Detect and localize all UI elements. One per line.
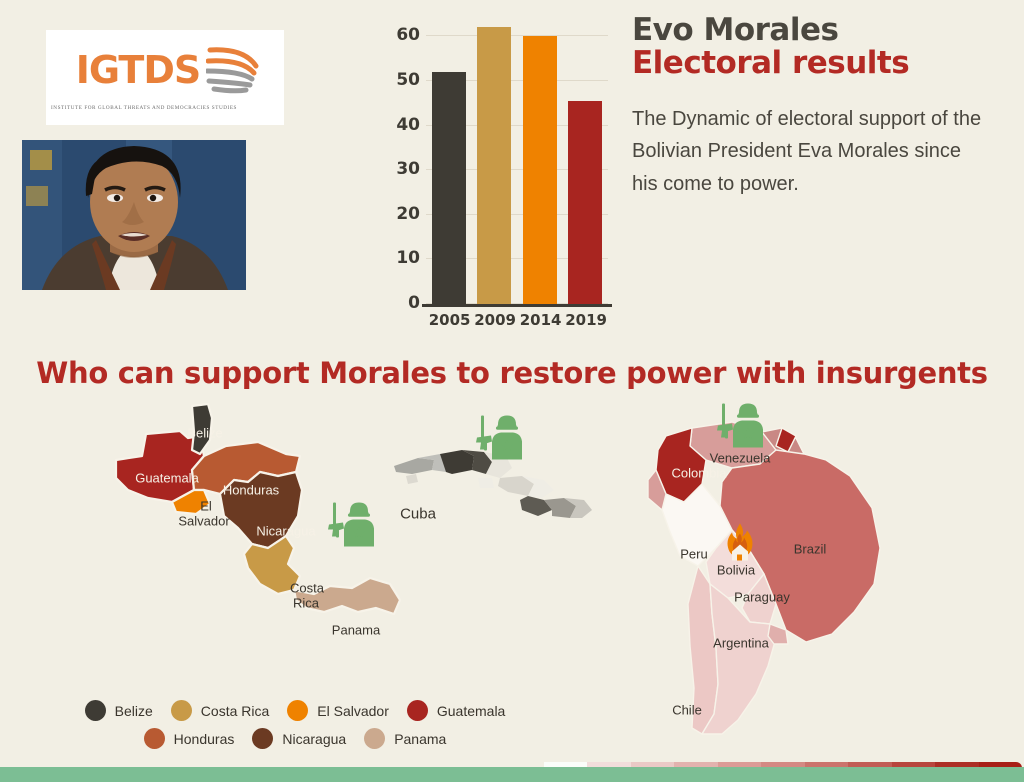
- chart-y-tick-label: 20: [396, 204, 420, 224]
- chart-bar-wrapper: [565, 14, 605, 304]
- legend-row: HondurasNicaraguaPanama: [60, 728, 530, 749]
- map-legend: BelizeCosta RicaEl SalvadorGuatemalaHond…: [60, 700, 530, 756]
- legend-row: BelizeCosta RicaEl SalvadorGuatemala: [60, 700, 530, 721]
- chart-y-tick-label: 30: [396, 159, 420, 179]
- chart-bar-2005[interactable]: [432, 72, 466, 304]
- footer-band: [0, 767, 1024, 782]
- chart-x-tick-labels: 2005200920142019: [426, 311, 608, 329]
- portrait-illustration: [22, 140, 246, 290]
- chart-bar-2014[interactable]: [523, 36, 557, 304]
- chart-y-tick-label: 50: [396, 70, 420, 90]
- soldier-icon: [715, 400, 767, 457]
- logo-wordmark: IGTDS: [76, 51, 201, 89]
- chart-x-tick-label: 2009: [474, 311, 514, 329]
- chart-y-tick-label: 10: [396, 248, 420, 268]
- legend-label: Guatemala: [437, 703, 505, 719]
- legend-swatch-icon: [85, 700, 106, 721]
- legend-swatch-icon: [171, 700, 192, 721]
- chart-x-axis: [422, 304, 612, 307]
- chart-bar-wrapper: [429, 14, 469, 304]
- logo-tagline: Institute for Global Threats and Democra…: [51, 105, 279, 111]
- header-description: The Dynamic of electoral support of the …: [632, 103, 992, 200]
- legend-item-guatemala[interactable]: Guatemala: [407, 700, 505, 721]
- section-title: Who can support Morales to restore power…: [0, 356, 1024, 390]
- page-subtitle: Electoral results: [632, 47, 992, 80]
- chart-x-tick-label: 2014: [520, 311, 560, 329]
- legend-item-el-salvador[interactable]: El Salvador: [287, 700, 389, 721]
- infographic-canvas: IGTDS Institute for Global Threats and D…: [0, 0, 1024, 782]
- logo-row: IGTDS: [46, 44, 284, 96]
- chart-y-tick-label: 40: [396, 115, 420, 135]
- fire-icon: [718, 522, 762, 571]
- south-america-map: [636, 398, 936, 758]
- chart-bar-2019[interactable]: [568, 101, 602, 304]
- chart-plot-area: 0102030405060: [426, 14, 608, 304]
- legend-item-honduras[interactable]: Honduras: [144, 728, 235, 749]
- country-costa-rica: [244, 536, 300, 594]
- legend-label: Nicaragua: [282, 731, 346, 747]
- chart-bar-wrapper: [474, 14, 514, 304]
- legend-label: Costa Rica: [201, 703, 269, 719]
- country-nicaragua: [220, 472, 302, 548]
- legend-item-belize[interactable]: Belize: [85, 700, 153, 721]
- electoral-results-chart: 0102030405060 2005200920142019: [392, 8, 608, 328]
- country-belize: [192, 404, 212, 454]
- chart-x-tick-label: 2005: [429, 311, 469, 329]
- legend-item-panama[interactable]: Panama: [364, 728, 446, 749]
- country-panama: [294, 578, 400, 614]
- legend-swatch-icon: [287, 700, 308, 721]
- soldier-icon: [326, 499, 378, 556]
- header-block: Evo Morales Electoral results The Dynami…: [632, 14, 992, 200]
- legend-label: Belize: [115, 703, 153, 719]
- legend-swatch-icon: [144, 728, 165, 749]
- igtds-logo: IGTDS Institute for Global Threats and D…: [46, 30, 284, 125]
- evo-morales-portrait: [22, 140, 246, 290]
- legend-swatch-icon: [364, 728, 385, 749]
- chart-bar-2009[interactable]: [477, 27, 511, 304]
- legend-label: Panama: [394, 731, 446, 747]
- chart-bars: [426, 14, 608, 304]
- legend-item-nicaragua[interactable]: Nicaragua: [252, 728, 346, 749]
- chart-y-tick-label: 0: [408, 293, 420, 313]
- legend-label: Honduras: [174, 731, 235, 747]
- legend-swatch-icon: [252, 728, 273, 749]
- legend-swatch-icon: [407, 700, 428, 721]
- legend-item-costa-rica[interactable]: Costa Rica: [171, 700, 269, 721]
- chart-x-tick-label: 2019: [565, 311, 605, 329]
- chart-bar-wrapper: [520, 14, 560, 304]
- chart-y-tick-label: 60: [396, 25, 420, 45]
- soldier-icon: [474, 412, 526, 469]
- legend-label: El Salvador: [317, 703, 389, 719]
- page-title: Evo Morales: [632, 14, 992, 47]
- logo-globe-icon: [206, 42, 264, 99]
